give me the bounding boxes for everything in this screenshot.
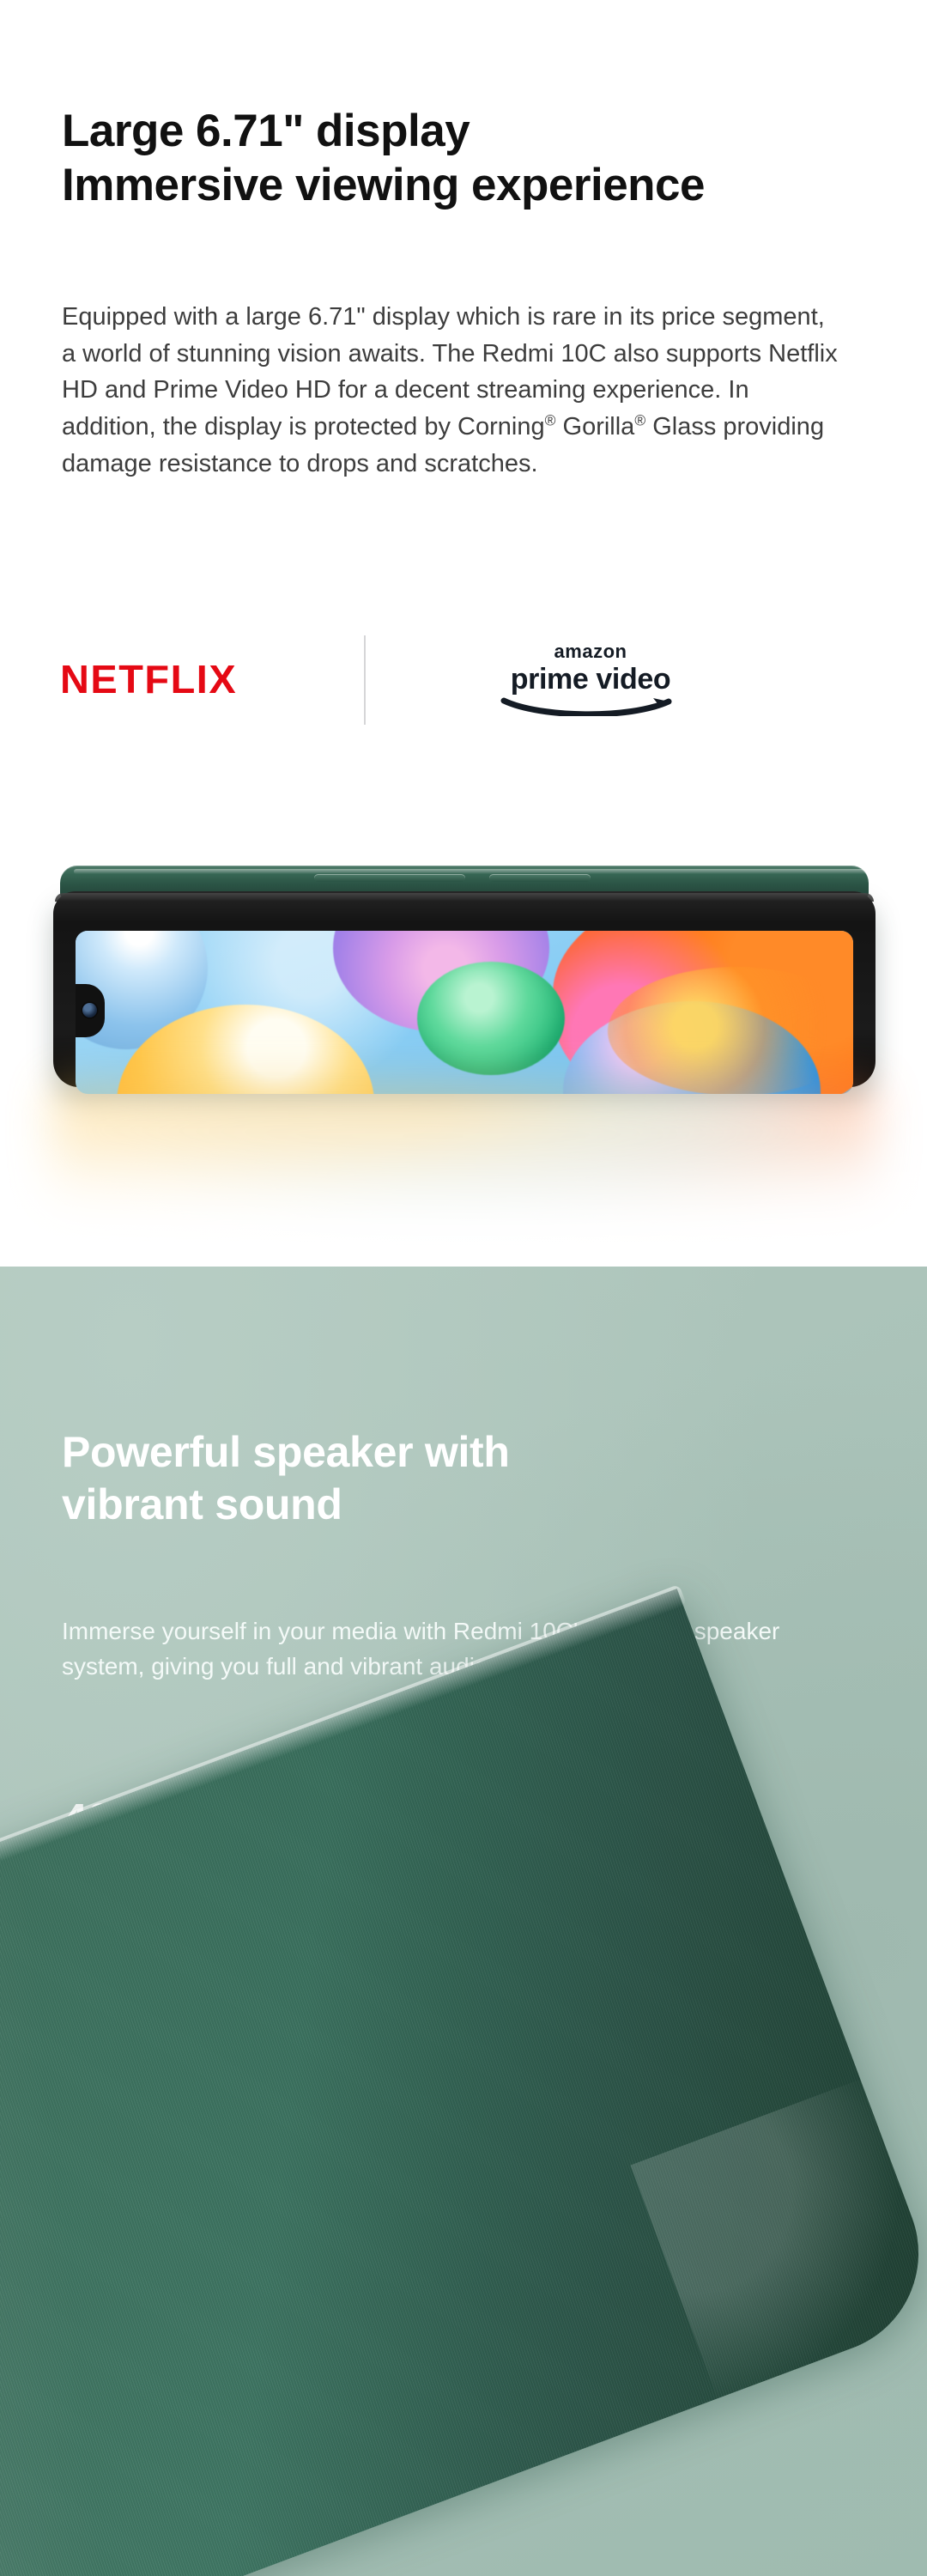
phone-bezel: [53, 891, 875, 1087]
amazon-prime-video-logo: amazon prime video: [453, 642, 728, 716]
wallpaper-orb-green: [417, 962, 565, 1075]
display-body-copy: Equipped with a large 6.71" display whic…: [62, 299, 843, 482]
streaming-logos-row: NETFLIX amazon prime video: [62, 635, 817, 738]
wallpaper-orb-orange-glow: [608, 967, 853, 1094]
bezel-edge-highlight: [55, 893, 874, 902]
amazon-wordmark: amazon: [453, 642, 728, 661]
phone-back-panel: [0, 1589, 927, 2576]
speaker-headline: Powerful speaker with vibrant sound: [62, 1426, 800, 1531]
logo-divider: [364, 635, 366, 725]
product-feature-page: Large 6.71" display Immersive viewing ex…: [0, 0, 927, 2576]
speaker-headline-line-2: vibrant sound: [62, 1479, 800, 1531]
back-panel-sheen: [0, 1589, 927, 2576]
display-headline-line-2: Immersive viewing experience: [62, 159, 869, 213]
reflection-fade-overlay: [0, 1099, 927, 1267]
prime-video-wordmark: prime video: [453, 661, 728, 699]
display-phone-image: [0, 841, 927, 1267]
front-camera-icon: [82, 1003, 97, 1018]
display-headline-line-1: Large 6.71" display: [62, 105, 869, 159]
phone-screen-wallpaper: [76, 931, 853, 1094]
power-button: [489, 874, 591, 882]
display-feature-section: Large 6.71" display Immersive viewing ex…: [0, 0, 927, 1267]
volume-rocker-button: [314, 874, 465, 882]
gorilla-registered-mark: ®: [634, 411, 645, 428]
display-body-part-2: Gorilla: [555, 413, 634, 440]
rail-highlight: [74, 869, 869, 874]
display-headline: Large 6.71" display Immersive viewing ex…: [62, 105, 869, 212]
speaker-phone-image: [0, 1868, 755, 2576]
speaker-feature-section: Powerful speaker with vibrant sound Imme…: [0, 1267, 927, 2576]
netflix-logo: NETFLIX: [60, 656, 237, 702]
phone-front-view: [53, 866, 875, 1087]
amazon-smile-arrow-icon: [453, 696, 728, 716]
speaker-headline-line-1: Powerful speaker with: [62, 1426, 800, 1479]
corning-registered-mark: ®: [545, 411, 556, 428]
